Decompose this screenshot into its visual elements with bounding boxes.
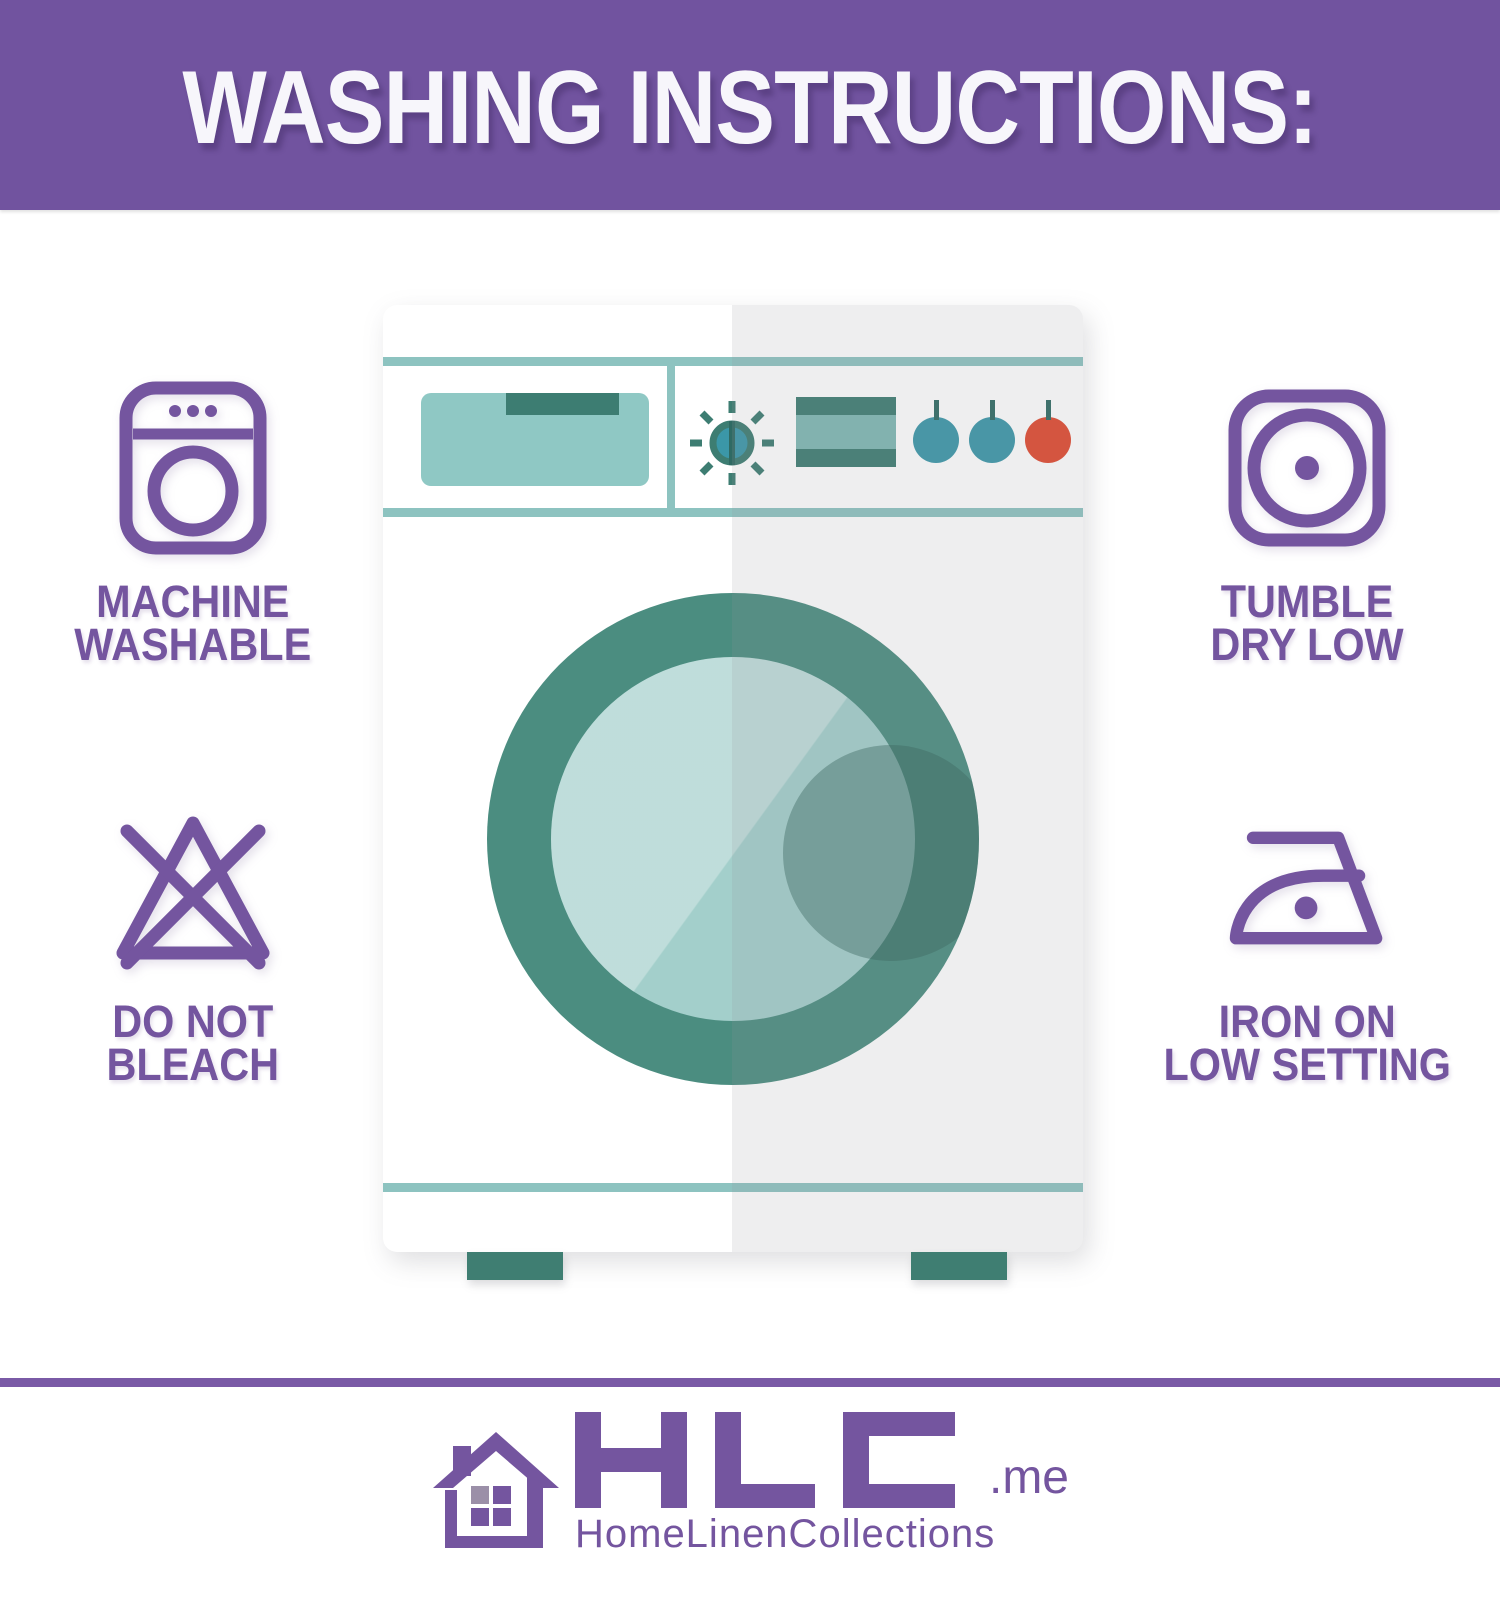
care-symbol-label: TUMBLE DRY LOW <box>1210 580 1403 666</box>
no-bleach-triangle-icon <box>103 798 283 978</box>
care-symbol-label: MACHINE WASHABLE <box>75 580 312 666</box>
base-divider <box>383 1183 1083 1192</box>
care-symbol-label: DO NOT BLEACH <box>107 1000 280 1086</box>
care-symbol-do-not-bleach: DO NOT BLEACH <box>28 798 358 1086</box>
display-band-top <box>796 397 896 415</box>
brand-wordmark <box>575 1412 985 1508</box>
knob-indicator <box>1046 400 1051 420</box>
drawer-handle <box>506 393 619 415</box>
control-knob-3[interactable] <box>1025 417 1071 463</box>
brand-tld: .me <box>989 1454 1069 1502</box>
panel-vertical-divider <box>667 366 675 508</box>
footer-divider <box>0 1378 1500 1387</box>
foot-left <box>467 1252 563 1280</box>
header-banner: WASHING INSTRUCTIONS: <box>0 0 1500 210</box>
brand-tagline: HomeLinenCollections <box>575 1514 995 1554</box>
infographic-page: WASHING INSTRUCTIONS: MACHINE WASHABLE D… <box>0 0 1500 1605</box>
control-knob-1[interactable] <box>913 417 959 463</box>
machine-door[interactable] <box>487 593 979 1085</box>
foot-right <box>911 1252 1007 1280</box>
iron-icon <box>1217 798 1397 978</box>
display-panel <box>796 397 896 467</box>
display-band-bottom <box>796 449 896 467</box>
knob-indicator <box>990 400 995 420</box>
brand-logo[interactable]: .me HomeLinenCollections <box>0 1412 1500 1554</box>
care-symbol-iron-on-low: IRON ON LOW SETTING <box>1142 798 1472 1086</box>
page-title: WASHING INSTRUCTIONS: <box>183 56 1318 160</box>
house-icon <box>431 1424 561 1554</box>
care-symbol-label: IRON ON LOW SETTING <box>1163 1000 1450 1086</box>
tumble-dry-icon <box>1217 378 1397 558</box>
knob-indicator <box>934 400 939 420</box>
care-symbol-machine-washable: MACHINE WASHABLE <box>28 378 358 666</box>
control-knob-2[interactable] <box>969 417 1015 463</box>
panel-bottom-divider <box>383 508 1083 517</box>
washing-machine-icon <box>103 378 283 558</box>
washing-machine-illustration <box>383 305 1083 1252</box>
detergent-drawer[interactable] <box>421 393 649 486</box>
sun-dial-knob[interactable] <box>690 401 774 485</box>
care-symbol-tumble-dry-low: TUMBLE DRY LOW <box>1142 378 1472 666</box>
panel-top-divider <box>383 357 1083 366</box>
